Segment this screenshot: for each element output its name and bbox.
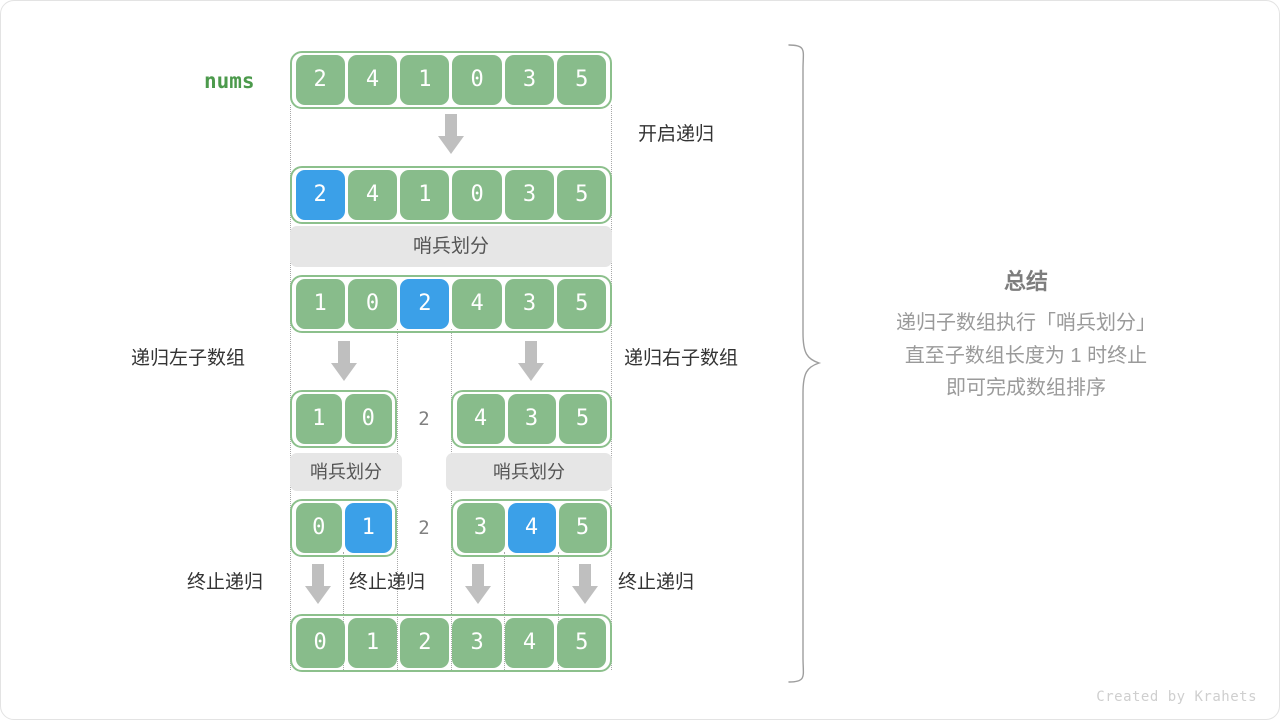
down-arrow-recurse-right: [518, 341, 544, 381]
label-stop-recursion-mid: 终止递归: [349, 573, 425, 592]
pivot-standalone-row-3: 2: [397, 390, 451, 448]
array-cell: 5: [559, 394, 607, 444]
summary-line-3: 即可完成数组排序: [846, 372, 1206, 404]
array-cell: 1: [296, 394, 343, 444]
down-arrow-stop-recursion-2: [465, 564, 491, 604]
label-start-recursion: 开启递归: [638, 125, 714, 144]
array-cell: 0: [296, 503, 343, 553]
array-row-0: 2 4 1 0 3 5: [290, 51, 612, 109]
array-cell: 0: [348, 279, 397, 329]
credit-text: Created by Krahets: [1096, 689, 1257, 705]
summary-line-1: 递归子数组执行「哨兵划分」: [846, 307, 1206, 339]
down-arrow-recurse-left: [331, 341, 357, 381]
partition-bar-level-1: 哨兵划分: [290, 226, 612, 267]
array-cell: 4: [457, 394, 505, 444]
array-cell: 5: [559, 503, 607, 553]
array-row-4-left: 0 1: [290, 499, 397, 557]
array-cell: 1: [400, 55, 449, 105]
array-cell-pivot: 2: [400, 279, 449, 329]
diagram-canvas: nums 2 4 1 0 3 5 开启递归 2 4 1 0 3 5 哨兵划分 1…: [0, 0, 1280, 720]
array-cell: 3: [505, 55, 554, 105]
array-row-3-right: 4 3 5: [451, 390, 612, 448]
array-cell: 0: [452, 170, 501, 220]
pivot-standalone-row-4: 2: [397, 499, 451, 557]
array-cell: 3: [505, 170, 554, 220]
array-cell: 1: [400, 170, 449, 220]
array-cell: 5: [557, 618, 606, 668]
array-cell: 4: [348, 55, 397, 105]
array-row-3-left: 1 0: [290, 390, 397, 448]
array-cell: 1: [296, 279, 345, 329]
array-cell: 2: [400, 618, 449, 668]
array-row-2: 1 0 2 4 3 5: [290, 275, 612, 333]
array-cell: 1: [348, 618, 397, 668]
label-recurse-left: 递归左子数组: [131, 349, 245, 368]
array-cell: 5: [557, 55, 606, 105]
array-row-4-right: 3 4 5: [451, 499, 612, 557]
array-cell: 0: [345, 394, 392, 444]
nums-label: nums: [204, 71, 255, 92]
label-stop-recursion-right: 终止递归: [618, 573, 694, 592]
array-cell: 2: [296, 55, 345, 105]
partition-bar-level-2-right: 哨兵划分: [446, 453, 612, 491]
array-cell: 3: [457, 503, 505, 553]
array-cell: 5: [557, 279, 606, 329]
array-cell: 0: [296, 618, 345, 668]
array-cell: 4: [505, 618, 554, 668]
down-arrow-stop-recursion-1: [305, 564, 331, 604]
summary-brace: [781, 41, 825, 686]
array-cell: 4: [348, 170, 397, 220]
array-cell: 0: [452, 55, 501, 105]
array-cell: 3: [505, 279, 554, 329]
label-recurse-right: 递归右子数组: [624, 349, 738, 368]
array-cell: 3: [508, 394, 556, 444]
array-cell-pivot: 4: [508, 503, 556, 553]
array-cell-pivot: 1: [345, 503, 392, 553]
down-arrow-start-recursion: [438, 114, 464, 154]
array-cell: 3: [452, 618, 501, 668]
array-row-5-sorted: 0 1 2 3 4 5: [290, 614, 612, 672]
down-arrow-stop-recursion-3: [572, 564, 598, 604]
label-stop-recursion-left: 终止递归: [187, 573, 263, 592]
array-row-1: 2 4 1 0 3 5: [290, 166, 612, 224]
array-cell: 5: [557, 170, 606, 220]
summary-title: 总结: [846, 269, 1206, 295]
summary-panel: 总结 递归子数组执行「哨兵划分」 直至子数组长度为 1 时终止 即可完成数组排序: [846, 269, 1206, 405]
array-cell-pivot: 2: [296, 170, 345, 220]
summary-line-2: 直至子数组长度为 1 时终止: [846, 340, 1206, 372]
partition-bar-level-2-left: 哨兵划分: [290, 453, 402, 491]
array-cell: 4: [452, 279, 501, 329]
